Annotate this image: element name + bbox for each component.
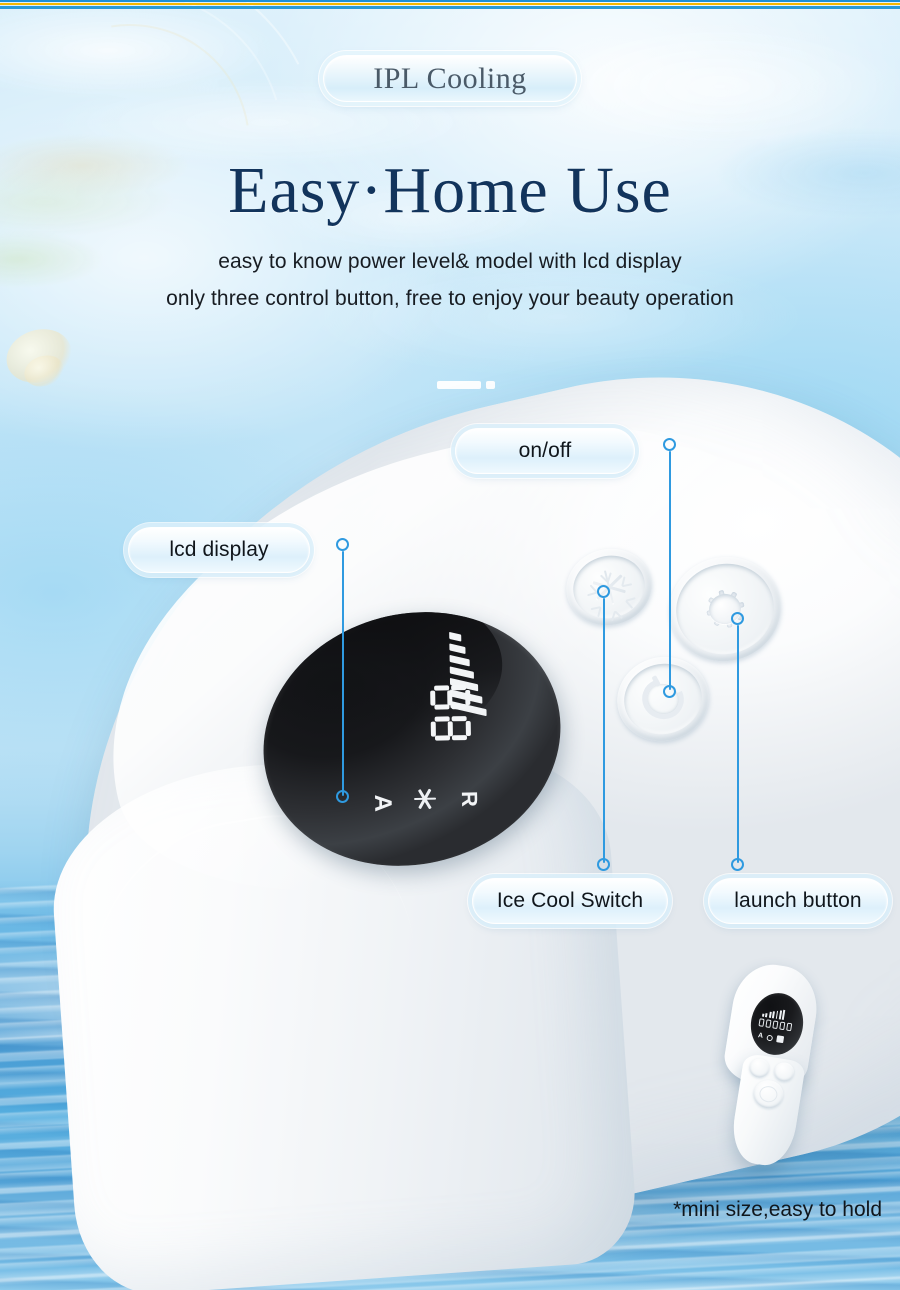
rule-line-gold: [0, 3, 900, 5]
lcd-digit-segment: [451, 685, 466, 690]
leader-line: [737, 625, 739, 863]
lcd-digit-segment: [435, 716, 450, 721]
mini-lcd-digit: [765, 1019, 771, 1028]
mini-lcd-digit: [779, 1022, 785, 1031]
lcd-content: R A: [335, 633, 489, 846]
snowflake-branch: [625, 600, 633, 609]
product-feature-page: IPL Cooling Easy·Home Use easy to know p…: [0, 0, 900, 1290]
leader-dot-bottom: [597, 858, 610, 871]
leader-line: [603, 598, 605, 863]
mini-button-launch: [751, 1078, 785, 1110]
lcd-bar-segment: [450, 666, 474, 679]
mini-lcd-digits: [758, 1018, 792, 1031]
lcd-snowflake-icon: [410, 784, 441, 815]
lcd-digit-segment: [430, 691, 435, 706]
mini-lcd-bar-segment: [782, 1010, 785, 1020]
leader-dot-top: [731, 612, 744, 625]
rule-line-blue-top: [0, 0, 900, 2]
lcd-digit: [430, 685, 470, 710]
mini-lcd-indicators: A: [757, 1032, 784, 1043]
mini-device-buttons: [740, 1057, 809, 1126]
leader-dot-top: [336, 538, 349, 551]
leader-line: [669, 451, 671, 690]
flash-tip-dash: [437, 381, 481, 389]
leader-line: [342, 551, 344, 796]
callout-lcd-display[interactable]: lcd display: [128, 527, 310, 573]
mini-lcd-digit: [758, 1018, 764, 1027]
callout-on-off[interactable]: on/off: [455, 428, 635, 474]
mini-lcd-auto-indicator: A: [757, 1032, 763, 1040]
mini-lcd-bar-segment: [769, 1012, 772, 1017]
lcd-digit: [431, 716, 471, 741]
leader-dot-top: [663, 438, 676, 451]
lcd-auto-indicator: A: [368, 794, 396, 812]
lcd-bar-segment: [449, 643, 465, 654]
leader-dot-top: [597, 585, 610, 598]
snowflake-branch: [622, 583, 632, 587]
lcd-digit-segment: [435, 735, 450, 740]
leader-dot-bottom: [663, 685, 676, 698]
lcd-mode-indicator: R: [456, 791, 482, 807]
mini-lcd-circle-icon: [766, 1034, 773, 1041]
leader-dot-bottom: [731, 858, 744, 871]
mini-lcd-bargraph: [762, 1007, 785, 1020]
mini-lcd-block-icon: [776, 1035, 784, 1043]
lcd-bar-segment: [449, 632, 461, 642]
lcd-bar-segment: [450, 655, 470, 667]
lcd-digits: [430, 685, 471, 741]
snowflake-branch: [607, 572, 612, 582]
callout-ice-cool-switch[interactable]: Ice Cool Switch: [472, 878, 668, 924]
mini-lcd-bar-segment: [772, 1012, 775, 1019]
lcd-digit-segment: [452, 735, 467, 740]
lcd-digit-segment: [465, 690, 470, 705]
rule-line-blue-bottom: [0, 6, 900, 9]
mini-lcd-bar-segment: [765, 1013, 767, 1017]
mini-lcd-digit: [772, 1020, 778, 1029]
mini-lcd-digit: [786, 1023, 792, 1032]
snowflake-branch: [611, 611, 616, 621]
lcd-digit-segment: [448, 721, 453, 736]
lcd-digit-segment: [452, 716, 467, 721]
mini-size-caption: *mini size,easy to hold: [620, 1198, 882, 1222]
lcd-digit-segment: [447, 690, 452, 705]
lcd-digit-segment: [466, 721, 471, 736]
top-border-rule: [0, 0, 900, 9]
lcd-digit-segment: [434, 704, 449, 709]
mini-lcd-bar-segment: [762, 1013, 764, 1016]
lcd-digit-segment: [451, 704, 466, 709]
callout-launch-button[interactable]: launch button: [708, 878, 888, 924]
leader-dot-bottom: [336, 790, 349, 803]
mini-button-power: [773, 1061, 796, 1083]
mini-device-illustration: A: [714, 965, 834, 1165]
lcd-digit-segment: [431, 722, 436, 737]
mini-button-ice-cool: [748, 1057, 771, 1079]
flash-tip-dot: [486, 381, 495, 389]
